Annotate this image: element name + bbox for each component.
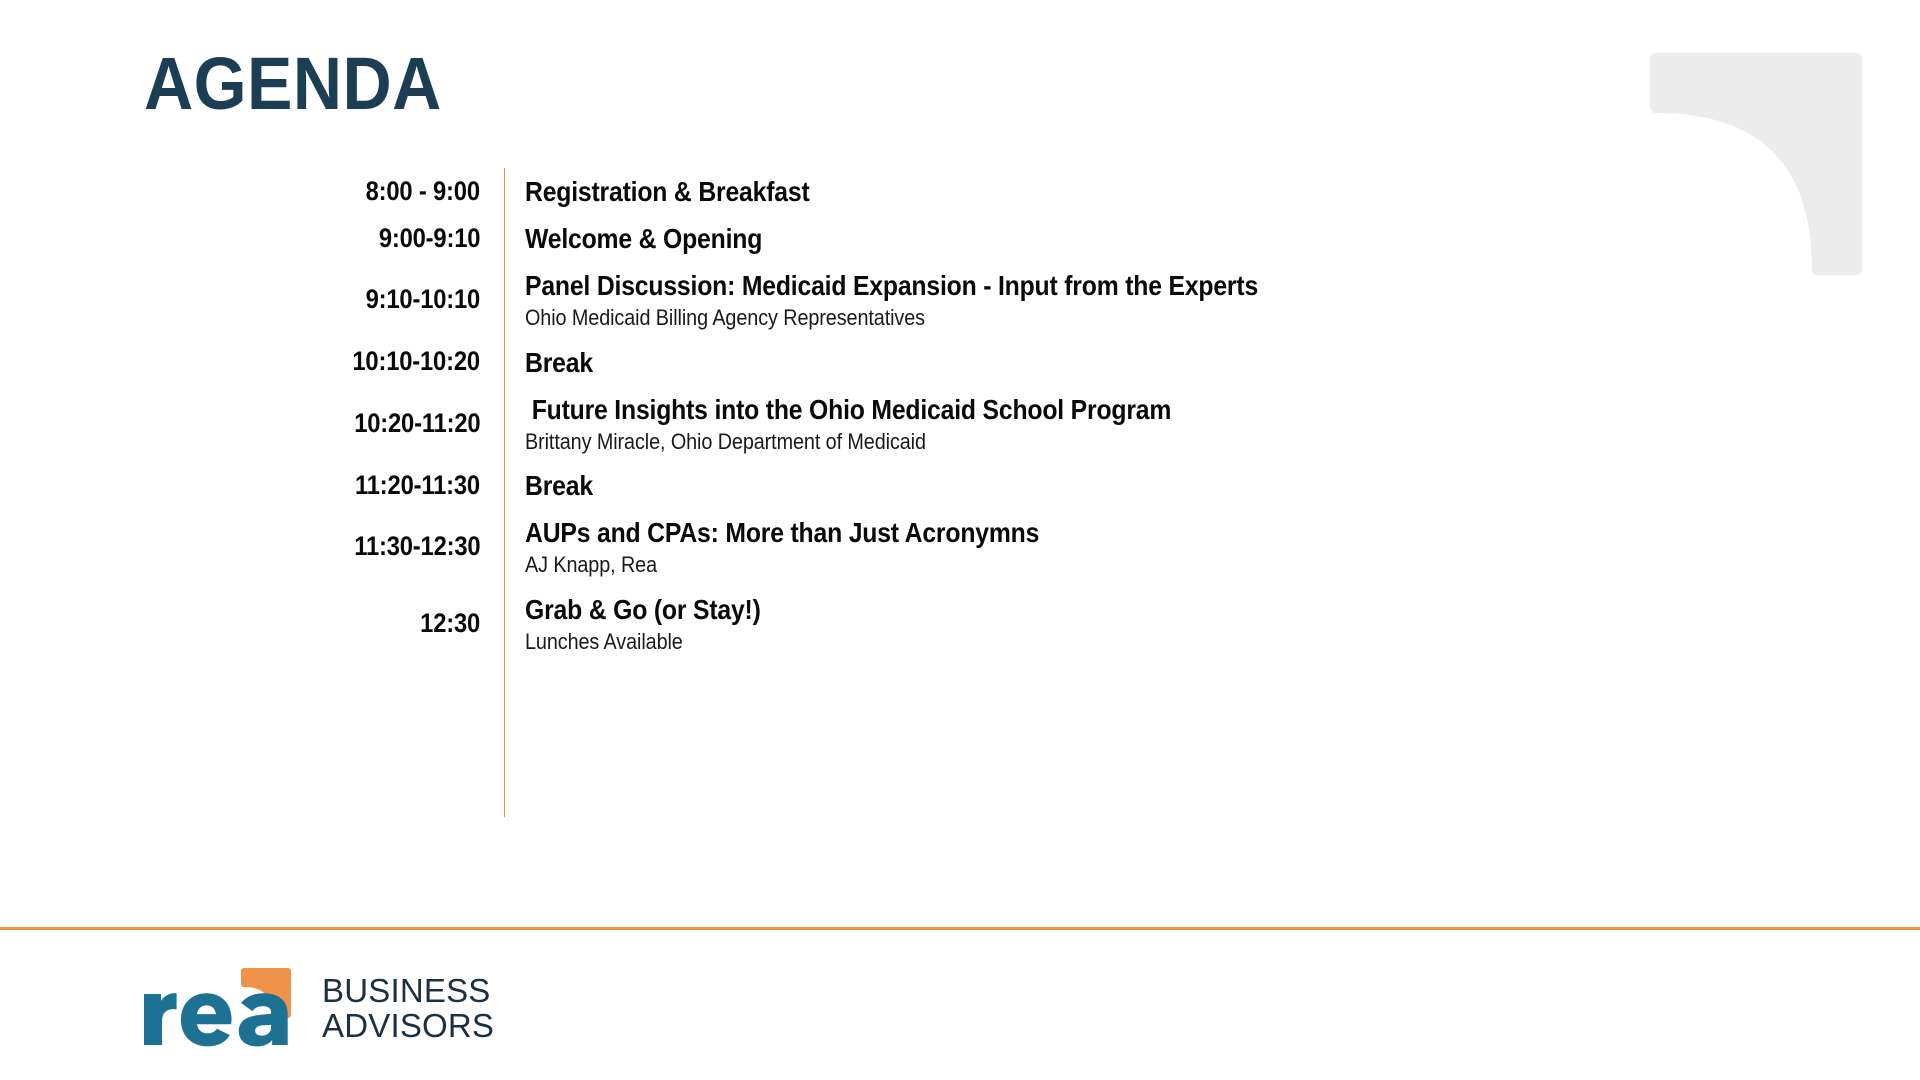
agenda-session-title: Break [525, 346, 1574, 379]
agenda-row: 9:10-10:10 Panel Discussion: Medicaid Ex… [190, 262, 1690, 339]
agenda-session-title: AUPs and CPAs: More than Just Acronymns [525, 516, 1574, 549]
agenda-divider-tail [505, 662, 1691, 817]
agenda-time: 12:30 [420, 609, 480, 639]
logo-line-business: BUSINESS [322, 973, 494, 1008]
agenda-session-subtitle: Ohio Medicaid Billing Agency Representat… [525, 304, 1574, 332]
agenda-session-cell: AUPs and CPAs: More than Just Acronymns … [505, 509, 1691, 586]
agenda-time-cell: 8:00 - 9:00 [190, 168, 505, 215]
agenda-time: 10:10-10:20 [352, 347, 480, 377]
agenda-session-title: Panel Discussion: Medicaid Expansion - I… [525, 269, 1574, 302]
agenda-time: 8:00 - 9:00 [366, 177, 480, 207]
agenda-table-body: 8:00 - 9:00 Registration & Breakfast 9:0… [190, 168, 1690, 817]
logo-wordmark-text: BUSINESS ADVISORS [322, 973, 494, 1044]
agenda-row: 9:00-9:10 Welcome & Opening [190, 215, 1690, 262]
agenda-session-cell: Future Insights into the Ohio Medicaid S… [505, 386, 1691, 463]
agenda-session-subtitle: Brittany Miracle, Ohio Department of Med… [525, 428, 1574, 456]
agenda-session-cell: Registration & Breakfast [505, 168, 1691, 215]
agenda-row: 10:20-11:20 Future Insights into the Ohi… [190, 386, 1690, 463]
agenda-session-subtitle: Lunches Available [525, 628, 1574, 656]
agenda-row: 11:30-12:30 AUPs and CPAs: More than Jus… [190, 509, 1690, 586]
agenda-session-title: Welcome & Opening [525, 222, 1574, 255]
agenda-time-cell: 11:30-12:30 [190, 509, 505, 586]
agenda-time: 11:20-11:30 [355, 471, 480, 501]
agenda-time: 10:20-11:20 [354, 409, 480, 439]
agenda-slide: AGENDA 8:00 - 9:00 Registration & Breakf… [0, 0, 1920, 1080]
agenda-divider-tail-spacer [190, 662, 505, 817]
agenda-row: 12:30 Grab & Go (or Stay!) Lunches Avail… [190, 586, 1690, 663]
agenda-session-title: Grab & Go (or Stay!) [525, 593, 1574, 626]
agenda-session-subtitle: AJ Knapp, Rea [525, 551, 1574, 579]
agenda-session-cell: Grab & Go (or Stay!) Lunches Available [505, 586, 1691, 663]
agenda-session-title: Future Insights into the Ohio Medicaid S… [525, 393, 1574, 426]
agenda-list: 8:00 - 9:00 Registration & Breakfast 9:0… [190, 168, 1690, 817]
agenda-time-cell: 12:30 [190, 586, 505, 663]
logo-line-advisors: ADVISORS [322, 1008, 494, 1043]
agenda-row: 8:00 - 9:00 Registration & Breakfast [190, 168, 1690, 215]
agenda-table: 8:00 - 9:00 Registration & Breakfast 9:0… [190, 168, 1690, 817]
rea-logo-mark-icon [140, 966, 300, 1050]
agenda-session-title: Registration & Breakfast [525, 175, 1574, 208]
agenda-time-cell: 10:20-11:20 [190, 386, 505, 463]
rea-business-advisors-logo: BUSINESS ADVISORS [140, 966, 494, 1050]
agenda-session-cell: Panel Discussion: Medicaid Expansion - I… [505, 262, 1691, 339]
agenda-row: 10:10-10:20 Break [190, 339, 1690, 386]
agenda-session-cell: Welcome & Opening [505, 215, 1691, 262]
page-title: AGENDA [144, 47, 442, 121]
agenda-session-cell: Break [505, 462, 1691, 509]
agenda-session-cell: Break [505, 339, 1691, 386]
agenda-time-cell: 11:20-11:30 [190, 462, 505, 509]
agenda-time: 9:10-10:10 [366, 285, 480, 315]
agenda-row: 11:20-11:30 Break [190, 462, 1690, 509]
agenda-time-cell: 10:10-10:20 [190, 339, 505, 386]
agenda-session-title: Break [525, 469, 1574, 502]
footer-divider-rule [0, 927, 1920, 930]
agenda-time-cell: 9:10-10:10 [190, 262, 505, 339]
agenda-divider-tail-row [190, 662, 1690, 817]
agenda-time: 9:00-9:10 [379, 224, 480, 254]
agenda-time: 11:30-12:30 [354, 532, 480, 562]
agenda-time-cell: 9:00-9:10 [190, 215, 505, 262]
